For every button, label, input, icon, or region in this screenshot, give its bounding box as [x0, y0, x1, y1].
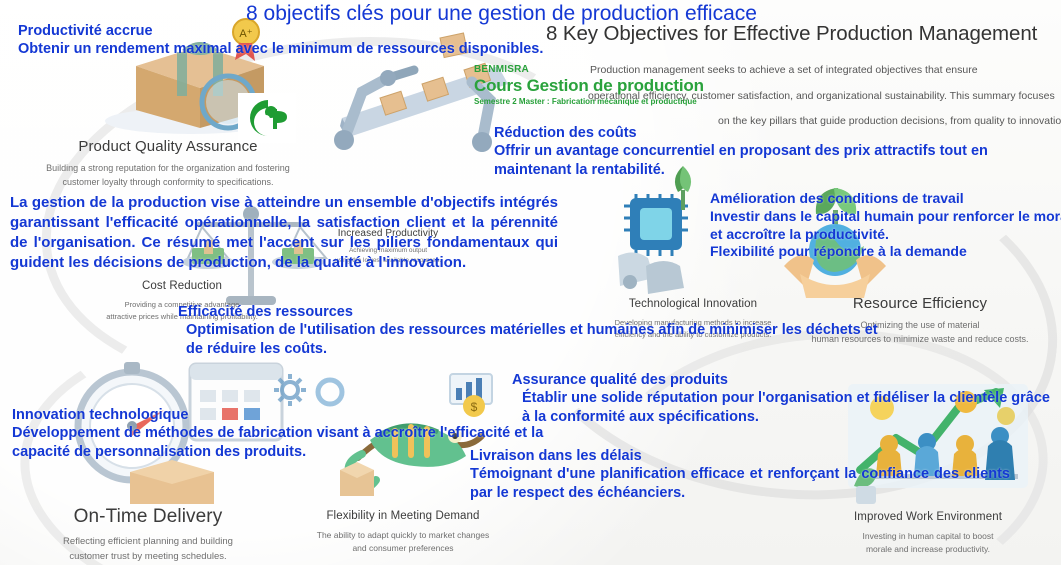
caption-title: Flexibility in Meeting Demand: [288, 510, 518, 522]
objective-body: Obtenir un rendement maximal avec le min…: [18, 40, 546, 58]
objective-heading: Livraison dans les délais: [470, 447, 1010, 465]
objective-body: Offrir un avantage concurrentiel en prop…: [494, 142, 1060, 179]
slide-canvas: A⁺: [0, 0, 1061, 565]
objective-heading: Amélioration des conditions de travail: [710, 190, 1061, 208]
objective-productivite: Productivité accrue Obtenir un rendement…: [18, 22, 546, 59]
caption-product-quality-assurance: Product Quality Assurance Building a str…: [28, 138, 308, 190]
objective-body: Investir dans le capital humain pour ren…: [710, 208, 1061, 244]
course-meta: Semestre 2 Master : Fabrication mécaniqu…: [474, 97, 704, 106]
caption-subtitle: Investing in human capital to boost mora…: [808, 530, 1048, 556]
course-stamp: BENMISRA Cours Gestion de production Sem…: [474, 64, 704, 106]
logo-mark-icon: [244, 97, 290, 139]
caption-title: Cost Reduction: [62, 280, 302, 292]
caption-title: On-Time Delivery: [18, 506, 278, 528]
objective-heading: Réduction des coûts: [494, 124, 1060, 142]
objective-conditions-travail: Amélioration des conditions de travail I…: [710, 190, 1061, 261]
objective-extra: Flexibilité pour répondre à la demande: [710, 243, 1061, 261]
caption-on-time-delivery: On-Time Delivery Reflecting efficient pl…: [18, 506, 278, 564]
intro-paragraph-fr: La gestion de la production vise à attei…: [10, 193, 558, 273]
objective-heading: Efficacité des ressources: [178, 303, 878, 321]
objective-body: Optimisation de l'utilisation des ressou…: [178, 321, 878, 358]
objective-livraison-delais: Livraison dans les délais Témoignant d'u…: [470, 447, 1010, 502]
objective-heading: Assurance qualité des produits: [512, 371, 1060, 389]
caption-subtitle: Building a strong reputation for the org…: [28, 162, 308, 190]
institution-logo: [238, 93, 296, 143]
objective-efficacite-ressources: Efficacité des ressources Optimisation d…: [178, 303, 878, 358]
caption-title: Improved Work Environment: [808, 511, 1048, 523]
objective-heading: Innovation technologique: [12, 406, 572, 424]
caption-improved-work-environment: Improved Work Environment Investing in h…: [808, 511, 1048, 556]
objective-assurance-qualite: Assurance qualité des produits Établir u…: [512, 371, 1060, 426]
objective-reduction-couts: Réduction des coûts Offrir un avantage c…: [494, 124, 1060, 179]
objective-body: Témoignant d'une planification efficace …: [470, 465, 1010, 502]
objective-body: Établir une solide réputation pour l'org…: [512, 389, 1060, 426]
caption-flexibility-meeting-demand: Flexibility in Meeting Demand The abilit…: [288, 510, 518, 555]
caption-subtitle: Reflecting efficient planning and buildi…: [18, 535, 278, 564]
course-author: BENMISRA: [474, 64, 704, 75]
objective-heading: Productivité accrue: [18, 22, 546, 40]
gear-icon: [272, 372, 308, 408]
caption-subtitle: The ability to adapt quickly to market c…: [288, 529, 518, 555]
course-title: Cours Gestion de production: [474, 76, 704, 96]
